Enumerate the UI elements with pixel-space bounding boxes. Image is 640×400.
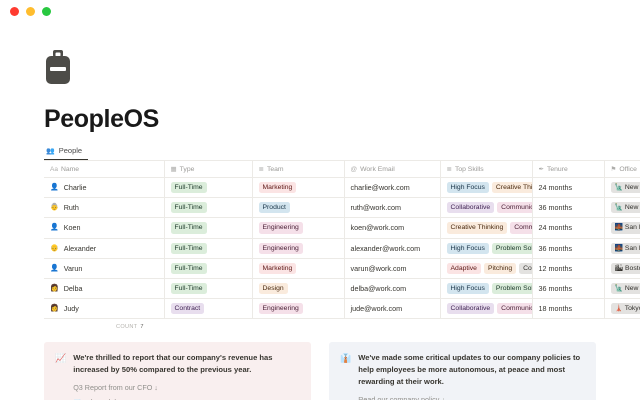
cell-email[interactable]: alexander@work.com	[344, 238, 440, 258]
table-header: AaName▦Type≣Team@Work Email≣Top Skills✒T…	[44, 161, 640, 178]
column-header-tenure[interactable]: ✒Tenure	[532, 161, 604, 178]
name-column-icon: Aa	[50, 166, 58, 173]
cell-email[interactable]: koen@work.com	[344, 218, 440, 238]
type-column-icon: ▦	[171, 166, 177, 173]
cell-type[interactable]: Full-Time	[164, 258, 252, 278]
column-header-label: Type	[180, 166, 195, 173]
column-header-name[interactable]: AaName	[44, 161, 164, 178]
cell-team[interactable]: Engineering	[252, 299, 344, 319]
page-title: PeopleOS	[44, 105, 596, 134]
cell-skills[interactable]: AdaptivePitchingControl	[440, 258, 532, 278]
app-window: PeopleOS 👥 People AaName▦Type≣Team@Work …	[0, 0, 640, 400]
cell-office[interactable]: 🗽 New York	[604, 178, 640, 198]
maximize-button[interactable]	[42, 7, 51, 16]
cell-team[interactable]: Engineering	[252, 218, 344, 238]
cell-team[interactable]: Engineering	[252, 238, 344, 258]
column-header-email[interactable]: @Work Email	[344, 161, 440, 178]
column-header-team[interactable]: ≣Team	[252, 161, 344, 178]
cell-tenure[interactable]: 36 months	[532, 198, 604, 218]
backpack-icon	[44, 50, 72, 84]
count-label: COUNT	[116, 324, 137, 330]
cell-type[interactable]: Full-Time	[164, 278, 252, 298]
skill-tag[interactable]: Control	[519, 263, 531, 274]
table-body: 👤CharlieFull-TimeMarketingcharlie@work.c…	[44, 178, 640, 319]
cell-type[interactable]: Contract	[164, 299, 252, 319]
callout-text: We're thrilled to report that our compan…	[73, 352, 299, 376]
cell-tenure[interactable]: 36 months	[532, 238, 604, 258]
column-header-label: Tenure	[547, 166, 568, 173]
cell-email[interactable]: varun@work.com	[344, 258, 440, 278]
cell-office[interactable]: 🗼 Tokyo	[604, 299, 640, 319]
avatar: 👴	[50, 245, 59, 252]
callout-cards: 📈We're thrilled to report that our compa…	[44, 342, 596, 400]
person-name: Varun	[64, 264, 83, 273]
cell-name[interactable]: 👤Charlie	[44, 178, 164, 198]
cell-skills[interactable]: High FocusProblem Solver	[440, 238, 532, 258]
person-name: Koen	[64, 223, 81, 232]
email-column-icon: @	[351, 166, 358, 173]
view-tabs: 👥 People	[44, 146, 596, 160]
office-tag[interactable]: 🗼 Tokyo	[611, 303, 640, 314]
skill-tag[interactable]: Creative Thinking	[447, 222, 508, 233]
table-row[interactable]: 👵RuthFull-TimeProductruth@work.comCollab…	[44, 198, 640, 218]
cell-tenure[interactable]: 12 months	[532, 258, 604, 278]
team-tag[interactable]: Engineering	[259, 303, 303, 314]
skill-tag[interactable]: Creative Thinking	[492, 182, 532, 193]
skill-tag[interactable]: Adaptive	[447, 263, 481, 274]
table-row[interactable]: 👩JudyContractEngineeringjude@work.comCol…	[44, 299, 640, 319]
skill-tag[interactable]: High Focus	[447, 243, 489, 254]
column-header-type[interactable]: ▦Type	[164, 161, 252, 178]
team-tag[interactable]: Marketing	[259, 182, 297, 193]
office-tag[interactable]: 🗽 New York	[611, 182, 640, 193]
skill-tag[interactable]: Problem Solver	[492, 243, 532, 254]
team-tag[interactable]: Design	[259, 283, 288, 294]
type-tag[interactable]: Full-Time	[171, 243, 207, 254]
table-header-row: AaName▦Type≣Team@Work Email≣Top Skills✒T…	[44, 161, 640, 178]
team-tag[interactable]: Engineering	[259, 222, 303, 233]
minimize-button[interactable]	[26, 7, 35, 16]
skill-tag[interactable]: Problem Solver	[492, 283, 532, 294]
column-header-label: Office	[619, 166, 637, 173]
team-tag[interactable]: Engineering	[259, 243, 303, 254]
person-name: Charlie	[64, 183, 87, 192]
cell-name[interactable]: 👴Alexander	[44, 238, 164, 258]
skill-tag[interactable]: Communication	[497, 303, 531, 314]
cell-office[interactable]: 🏙 Boston	[604, 258, 640, 278]
type-tag[interactable]: Full-Time	[171, 283, 207, 294]
cell-skills[interactable]: High FocusProblem Solver	[440, 278, 532, 298]
office-column-icon: ⚑	[611, 166, 617, 173]
person-name: Delba	[64, 284, 83, 293]
cell-type[interactable]: Full-Time	[164, 198, 252, 218]
cell-tenure[interactable]: 24 months	[532, 178, 604, 198]
skill-tag[interactable]: Collaborative	[447, 303, 495, 314]
table-row[interactable]: 👴AlexanderFull-TimeEngineeringalexander@…	[44, 238, 640, 258]
cell-tenure[interactable]: 18 months	[532, 299, 604, 319]
callout-card-0[interactable]: 📈We're thrilled to report that our compa…	[44, 342, 311, 400]
callout-text: We've made some critical updates to our …	[358, 352, 584, 387]
type-tag[interactable]: Full-Time	[171, 182, 207, 193]
callout-subtitle: Read our company policy ↓	[358, 395, 584, 400]
skill-tag[interactable]: Communication	[510, 222, 531, 233]
cell-name[interactable]: 👵Ruth	[44, 198, 164, 218]
team-column-icon: ≣	[259, 166, 264, 173]
office-tag[interactable]: 🌉 San Francisco	[611, 243, 640, 254]
close-button[interactable]	[10, 7, 19, 16]
cell-email[interactable]: jude@work.com	[344, 299, 440, 319]
cell-email[interactable]: charlie@work.com	[344, 178, 440, 198]
people-table: AaName▦Type≣Team@Work Email≣Top Skills✒T…	[44, 160, 640, 319]
cell-tenure[interactable]: 36 months	[532, 278, 604, 298]
table-row[interactable]: 👤CharlieFull-TimeMarketingcharlie@work.c…	[44, 178, 640, 198]
cell-type[interactable]: Full-Time	[164, 178, 252, 198]
people-icon: 👥	[46, 147, 55, 155]
type-tag[interactable]: Contract	[171, 303, 205, 314]
cell-type[interactable]: Full-Time	[164, 238, 252, 258]
cell-skills[interactable]: CollaborativeCommunication	[440, 299, 532, 319]
page-content: PeopleOS 👥 People AaName▦Type≣Team@Work …	[0, 22, 640, 400]
avatar: 👤	[50, 265, 59, 272]
cell-skills[interactable]: Creative ThinkingCommunication	[440, 218, 532, 238]
avatar: 👩	[50, 285, 59, 292]
type-tag[interactable]: Full-Time	[171, 202, 207, 213]
cell-team[interactable]: Product	[252, 198, 344, 218]
cell-name[interactable]: 👩Delba	[44, 278, 164, 298]
table-row[interactable]: 👩DelbaFull-TimeDesigndelba@work.comHigh …	[44, 278, 640, 298]
window-titlebar	[0, 0, 640, 22]
cell-name[interactable]: 👤Varun	[44, 258, 164, 278]
cell-skills[interactable]: High FocusCreative Thinking	[440, 178, 532, 198]
cell-email[interactable]: ruth@work.com	[344, 198, 440, 218]
cell-skills[interactable]: CollaborativeCommunication	[440, 198, 532, 218]
table-footer-count: COUNT 7	[44, 324, 596, 330]
team-tag[interactable]: Marketing	[259, 263, 297, 274]
type-tag[interactable]: Full-Time	[171, 222, 207, 233]
office-tag[interactable]: 🗽 New York	[611, 202, 640, 213]
office-tag[interactable]: 🌉 San Francisco	[611, 222, 640, 233]
cell-team[interactable]: Marketing	[252, 178, 344, 198]
type-tag[interactable]: Full-Time	[171, 263, 207, 274]
skill-tag[interactable]: Collaborative	[447, 202, 495, 213]
skill-tag[interactable]: Pitching	[484, 263, 516, 274]
office-tag[interactable]: 🗽 New York	[611, 283, 640, 294]
cell-office[interactable]: 🗽 New York	[604, 278, 640, 298]
person-name: Alexander	[64, 244, 96, 253]
tab-people-label: People	[59, 146, 82, 155]
cell-team[interactable]: Marketing	[252, 258, 344, 278]
cell-email[interactable]: delba@work.com	[344, 278, 440, 298]
cell-name[interactable]: 👩Judy	[44, 299, 164, 319]
avatar: 👤	[50, 224, 59, 231]
cell-team[interactable]: Design	[252, 278, 344, 298]
cell-type[interactable]: Full-Time	[164, 218, 252, 238]
callout-card-1[interactable]: 👔We've made some critical updates to our…	[329, 342, 596, 400]
table-row[interactable]: 👤VarunFull-TimeMarketingvarun@work.comAd…	[44, 258, 640, 278]
tab-people[interactable]: 👥 People	[44, 146, 88, 160]
team-tag[interactable]: Product	[259, 202, 290, 213]
count-value: 7	[140, 324, 143, 330]
avatar: 👵	[50, 204, 59, 211]
avatar: 👩	[50, 305, 59, 312]
shirt-icon: 👔	[340, 353, 351, 400]
skill-tag[interactable]: High Focus	[447, 182, 489, 193]
chart-icon: 📈	[55, 353, 66, 400]
skill-tag[interactable]: High Focus	[447, 283, 489, 294]
tenure-column-icon: ✒	[539, 166, 544, 173]
office-tag[interactable]: 🏙 Boston	[611, 263, 640, 274]
column-header-label: Top Skills	[455, 166, 484, 173]
cell-office[interactable]: 🌉 San Francisco	[604, 218, 640, 238]
person-name: Ruth	[64, 203, 79, 212]
skill-tag[interactable]: Communication	[497, 202, 531, 213]
callout-subtitle: Q3 Report from our CFO ↓	[73, 383, 299, 392]
avatar: 👤	[50, 184, 59, 191]
person-name: Judy	[64, 304, 79, 313]
column-header-skills[interactable]: ≣Top Skills	[440, 161, 532, 178]
table-row[interactable]: 👤KoenFull-TimeEngineeringkoen@work.comCr…	[44, 218, 640, 238]
column-header-label: Team	[267, 166, 284, 173]
column-header-office[interactable]: ⚑Office	[604, 161, 640, 178]
cell-tenure[interactable]: 24 months	[532, 218, 604, 238]
column-header-label: Work Email	[360, 166, 395, 173]
cell-name[interactable]: 👤Koen	[44, 218, 164, 238]
column-header-label: Name	[61, 166, 79, 173]
skills-column-icon: ≣	[447, 166, 452, 173]
cell-office[interactable]: 🌉 San Francisco	[604, 238, 640, 258]
cell-office[interactable]: 🗽 New York	[604, 198, 640, 218]
